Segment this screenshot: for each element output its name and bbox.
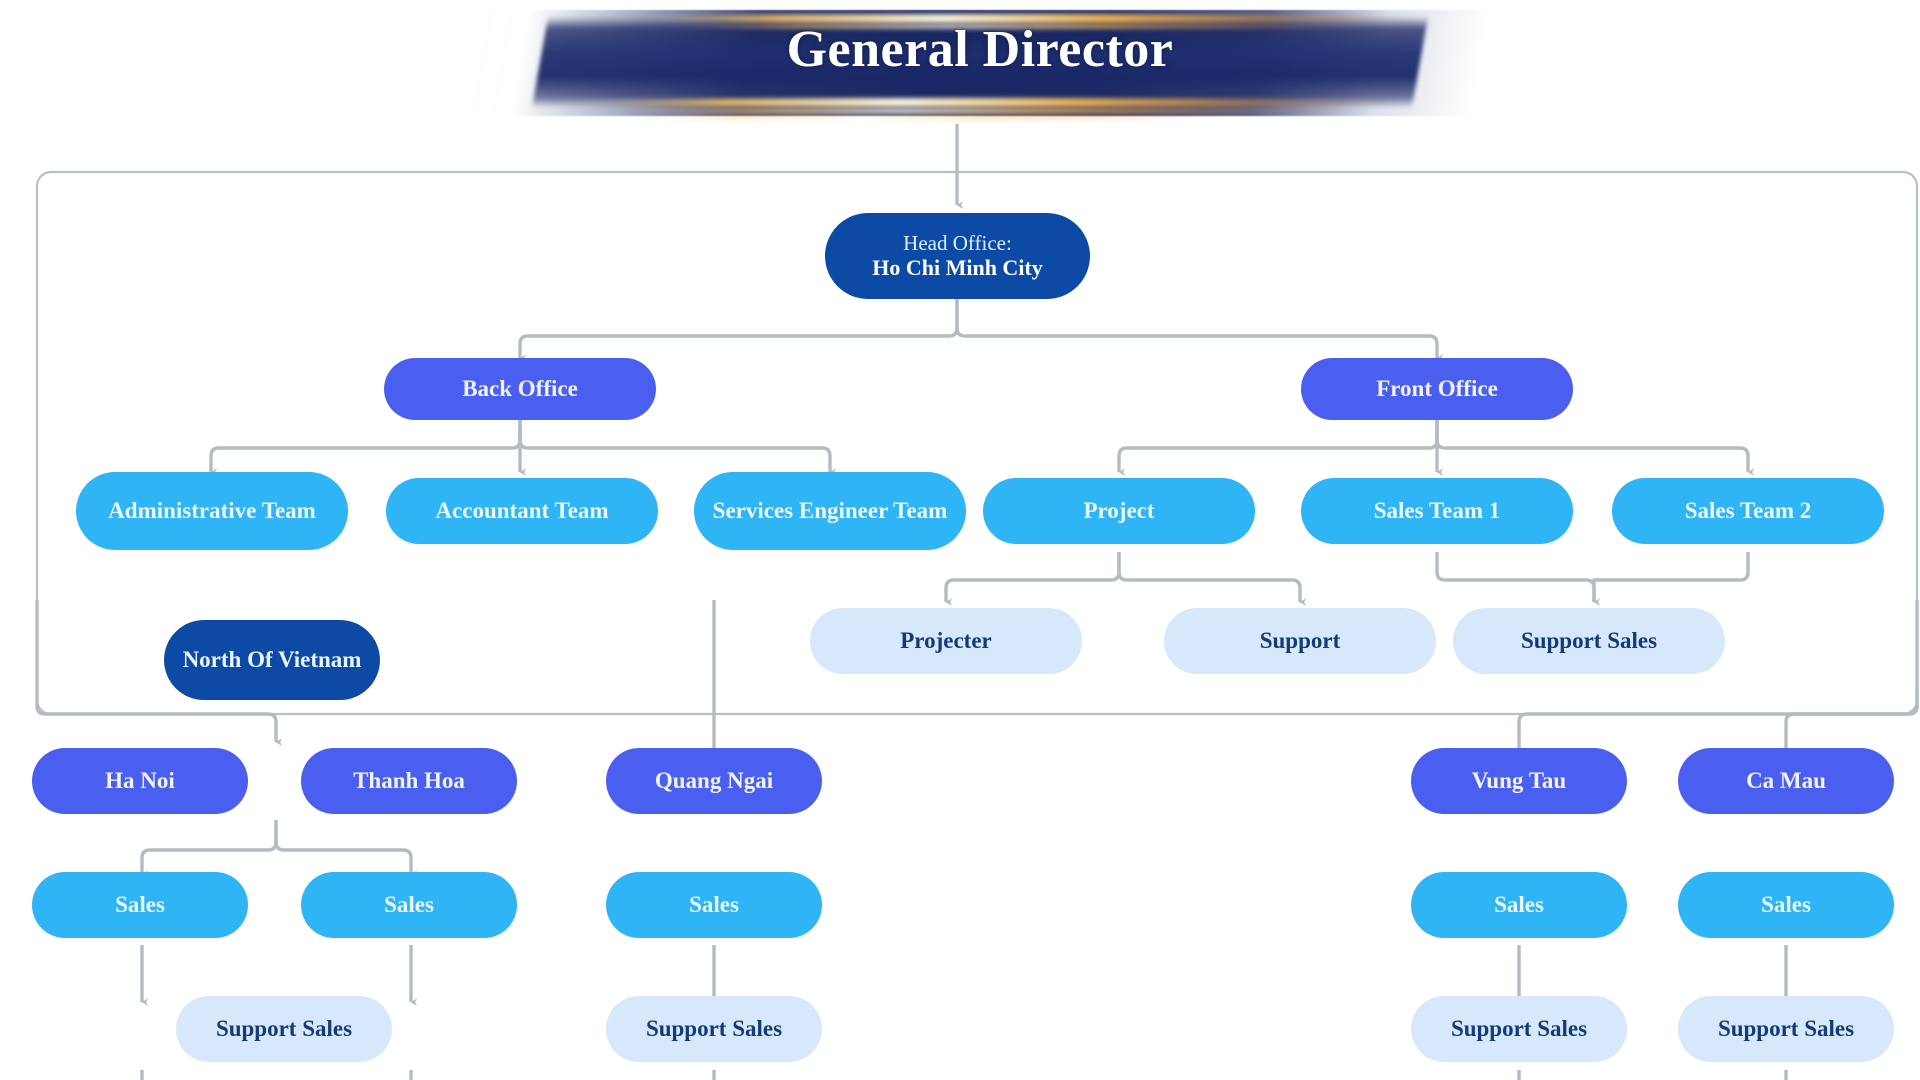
node-sales-thanh-hoa[interactable]: Sales [301, 872, 517, 938]
node-accountant-team[interactable]: Accountant Team [386, 478, 658, 544]
node-label: Support Sales [216, 1016, 352, 1043]
node-services-engineer-team[interactable]: Services Engineer Team [694, 472, 966, 550]
node-sales-ha-noi[interactable]: Sales [32, 872, 248, 938]
node-quang-ngai[interactable]: Quang Ngai [606, 748, 822, 814]
node-label: Projecter [900, 628, 992, 655]
node-front-office[interactable]: Front Office [1301, 358, 1573, 420]
node-sales-ca-mau[interactable]: Sales [1678, 872, 1894, 938]
node-label: Vung Tau [1472, 768, 1566, 795]
node-label: Accountant Team [435, 498, 608, 525]
node-label: Support Sales [646, 1016, 782, 1043]
org-chart-canvas: General Director [0, 0, 1920, 1080]
node-label: Sales Team 2 [1685, 498, 1812, 525]
node-ca-mau[interactable]: Ca Mau [1678, 748, 1894, 814]
node-support-sales-ca-mau[interactable]: Support Sales [1678, 996, 1894, 1062]
general-director-banner: General Director [480, 2, 1480, 124]
node-label: Ha Noi [105, 768, 175, 795]
node-sales-vung-tau[interactable]: Sales [1411, 872, 1627, 938]
node-label: Support [1260, 628, 1341, 655]
node-north-of-vietnam[interactable]: North Of Vietnam [164, 620, 380, 700]
node-label: Project [1083, 498, 1154, 525]
node-support-sales-vung-tau[interactable]: Support Sales [1411, 996, 1627, 1062]
node-thanh-hoa[interactable]: Thanh Hoa [301, 748, 517, 814]
node-vung-tau[interactable]: Vung Tau [1411, 748, 1627, 814]
node-ha-noi[interactable]: Ha Noi [32, 748, 248, 814]
node-label: North Of Vietnam [183, 647, 362, 674]
node-support-sales-quang-ngai[interactable]: Support Sales [606, 996, 822, 1062]
banner-gold-streak-bottom-2 [569, 108, 1360, 114]
node-label: Sales [1494, 892, 1544, 919]
node-label: Services Engineer Team [713, 498, 948, 525]
node-projecter[interactable]: Projecter [810, 608, 1082, 674]
node-support-sales-front-office[interactable]: Support Sales [1453, 608, 1725, 674]
head-office-label: Ho Chi Minh City [872, 255, 1043, 281]
page-title: General Director [480, 20, 1480, 79]
node-project[interactable]: Project [983, 478, 1255, 544]
node-support[interactable]: Support [1164, 608, 1436, 674]
node-sales-team-2[interactable]: Sales Team 2 [1612, 478, 1884, 544]
node-head-office[interactable]: Head Office: Ho Chi Minh City [825, 213, 1090, 299]
node-label: Quang Ngai [655, 768, 773, 795]
node-label: Front Office [1376, 376, 1498, 403]
node-sales-quang-ngai[interactable]: Sales [606, 872, 822, 938]
head-office-sublabel: Head Office: [903, 231, 1012, 255]
node-label: Sales [384, 892, 434, 919]
node-label: Support Sales [1521, 628, 1657, 655]
node-label: Back Office [462, 376, 578, 403]
node-label: Sales Team 1 [1374, 498, 1501, 525]
node-label: Sales [115, 892, 165, 919]
node-back-office[interactable]: Back Office [384, 358, 656, 420]
node-label: Administrative Team [108, 498, 316, 525]
node-administrative-team[interactable]: Administrative Team [76, 472, 348, 550]
node-support-sales-north[interactable]: Support Sales [176, 996, 392, 1062]
node-label: Support Sales [1451, 1016, 1587, 1043]
node-label: Thanh Hoa [353, 768, 465, 795]
node-label: Sales [689, 892, 739, 919]
banner-gold-streak-bottom-3 [600, 116, 1221, 120]
node-label: Sales [1761, 892, 1811, 919]
banner-gold-streak-bottom [529, 98, 1411, 107]
node-sales-team-1[interactable]: Sales Team 1 [1301, 478, 1573, 544]
node-label: Ca Mau [1746, 768, 1826, 795]
node-label: Support Sales [1718, 1016, 1854, 1043]
